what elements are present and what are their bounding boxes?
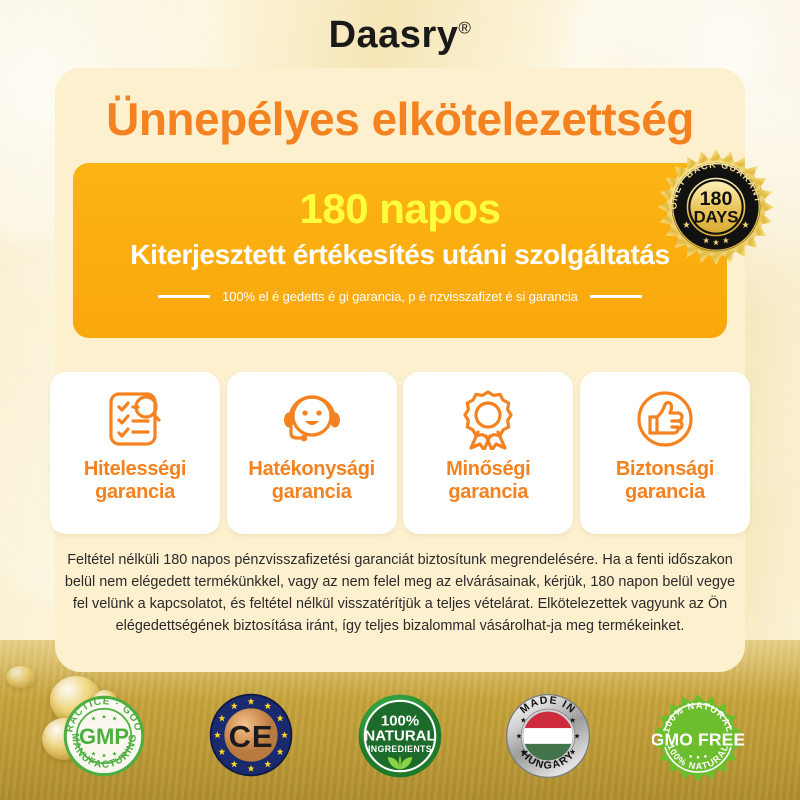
made-in-hungary-badge: MADE IN HUNGARY	[504, 692, 592, 780]
money-back-badge-number: 180	[700, 188, 733, 210]
card-safety-guarantee[interactable]: Biztonsági garancia	[580, 372, 750, 534]
natural-line3: INGREDIENTS	[368, 744, 432, 754]
brand-name-text: Daasry	[329, 14, 459, 56]
card-label: Hitelességi garancia	[84, 458, 186, 504]
card-credibility-guarantee[interactable]: Hitelességi garancia	[50, 372, 220, 534]
card-effectiveness-guarantee[interactable]: Hatékonysági garancia	[227, 372, 397, 534]
oil-droplet-icon	[6, 666, 36, 688]
divider-left	[158, 295, 210, 298]
page-title: Ünnepélyes elkötelezettség	[0, 92, 800, 146]
card-label: Biztonsági garancia	[616, 458, 714, 504]
money-back-guarantee-badge: MONEY BACK GUARANTEE 180 DAYS	[657, 148, 775, 266]
banner-note-text: 100% el é gedetts é gi garancia, p é nzv…	[222, 289, 578, 304]
banner-note-row: 100% el é gedetts é gi garancia, p é nzv…	[73, 289, 727, 304]
guarantee-cards: Hitelességi garancia Hatékonysági garanc…	[50, 372, 750, 534]
card-label-line2: garancia	[446, 481, 530, 504]
gmp-main-text: GMP	[79, 724, 129, 749]
natural-ingredients-badge: 100% NATURAL INGREDIENTS	[356, 692, 444, 780]
thumbs-up-icon	[635, 386, 695, 452]
gmo-main-text: GMO FREE	[652, 729, 744, 749]
headset-smiley-icon	[280, 386, 344, 452]
divider-right	[590, 295, 642, 298]
card-label-line2: garancia	[84, 481, 186, 504]
certification-badges: PRACTICE · GOOD MANUFACTURING GMP	[0, 686, 800, 786]
card-label-line1: Hatékonysági	[248, 458, 374, 481]
guarantee-description: Feltétel nélküli 180 napos pénzvisszafiz…	[62, 550, 738, 638]
checklist-magnifier-icon	[104, 386, 166, 452]
registered-trademark-icon: ®	[458, 18, 471, 37]
award-rosette-icon	[458, 386, 518, 452]
card-label-line1: Hitelességi	[84, 458, 186, 481]
card-label-line1: Biztonsági	[616, 458, 714, 481]
brand-name: Daasry®	[0, 14, 800, 57]
natural-line2: NATURAL	[364, 727, 435, 744]
card-label: Minőségi garancia	[446, 458, 530, 504]
money-back-badge-unit: DAYS	[694, 208, 739, 227]
banner-days-headline: 180 napos	[73, 185, 727, 233]
banner-subheadline: Kiterjesztett értékesítés utáni szolgált…	[73, 239, 727, 271]
card-label-line1: Minőségi	[446, 458, 530, 481]
ce-main-text: CE	[229, 719, 274, 754]
gmo-free-badge: 100% NATURAL 100% NATURAL GMO FREE	[652, 692, 740, 780]
ce-badge: CE	[208, 692, 296, 780]
card-label-line2: garancia	[248, 481, 374, 504]
guarantee-banner: 180 napos Kiterjesztett értékesítés után…	[73, 163, 727, 338]
gmp-badge: PRACTICE · GOOD MANUFACTURING GMP	[60, 692, 148, 780]
card-quality-guarantee[interactable]: Minőségi garancia	[403, 372, 573, 534]
card-label: Hatékonysági garancia	[248, 458, 374, 504]
card-label-line2: garancia	[616, 481, 714, 504]
